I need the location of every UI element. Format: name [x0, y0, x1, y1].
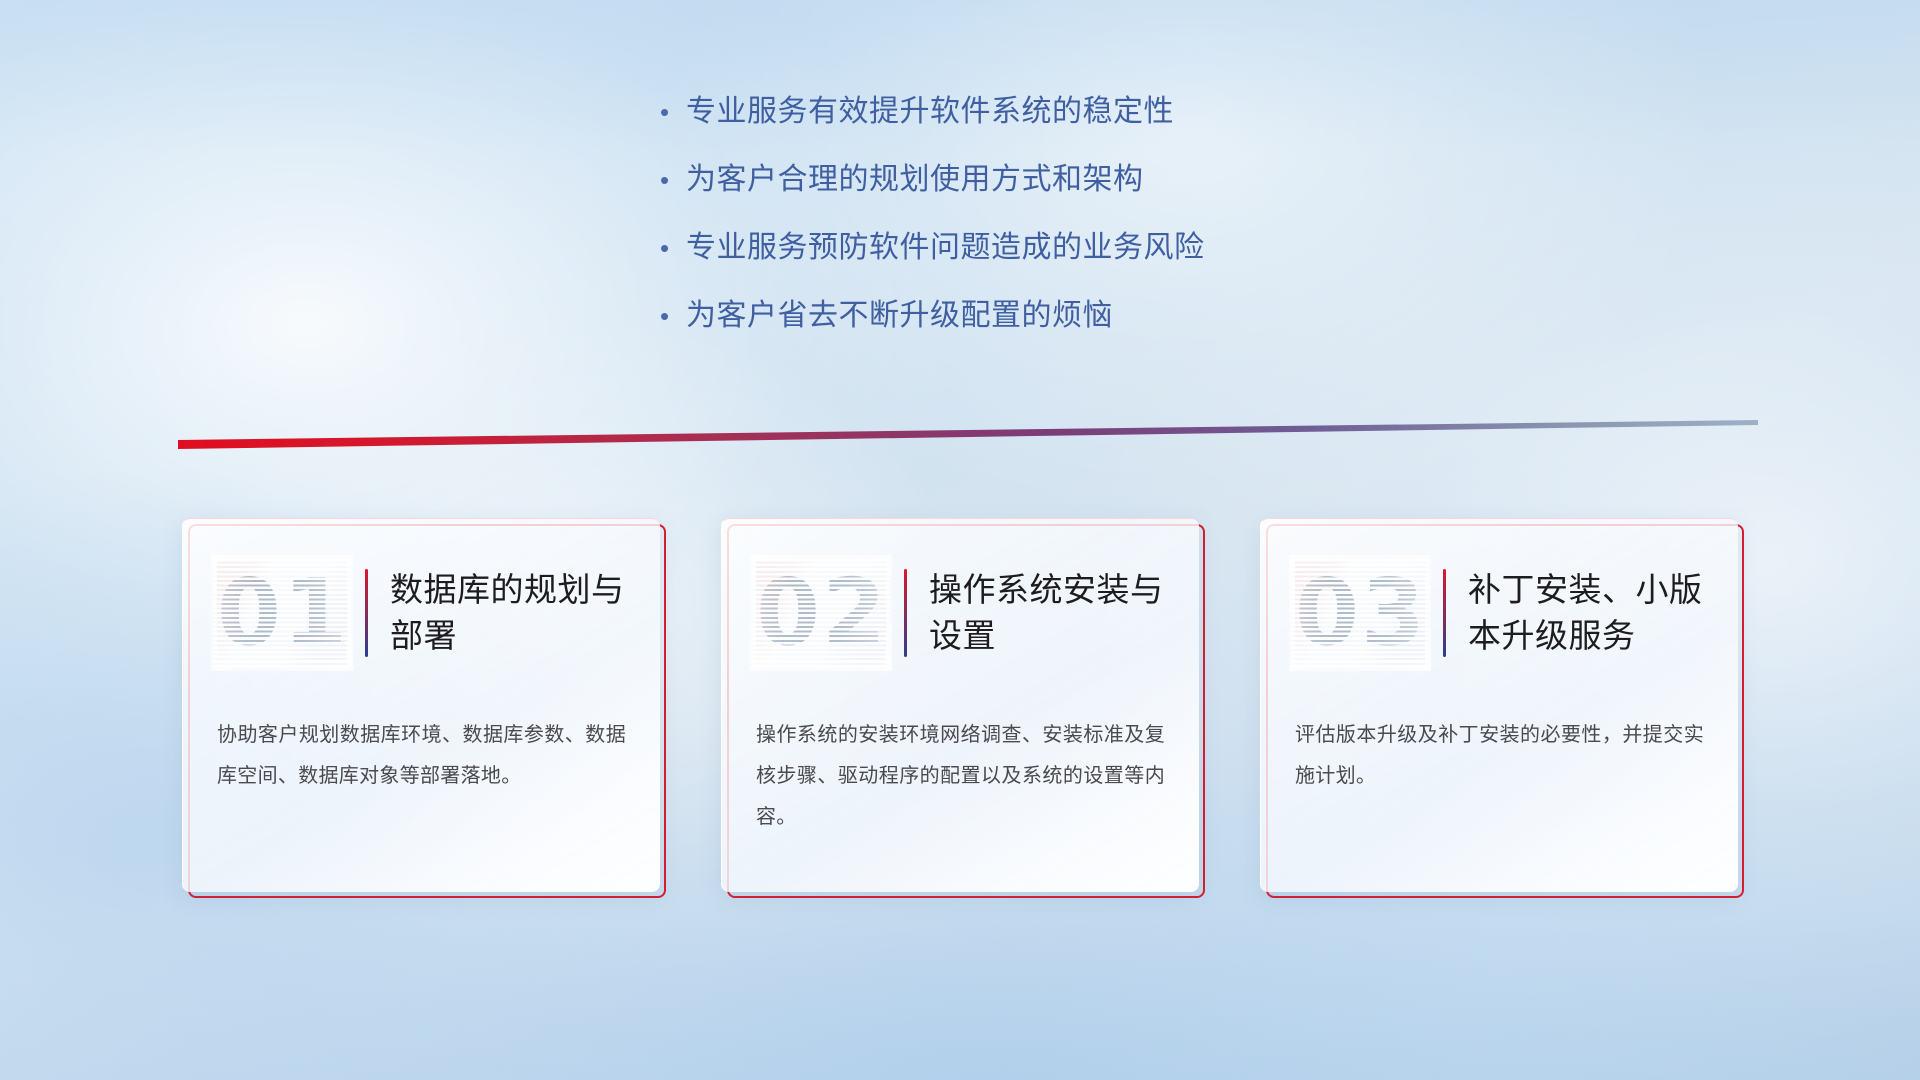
card-header: 01 数据库的规划与部署 [217, 549, 626, 677]
bullet-item-label: 为客户省去不断升级配置的烦恼 [686, 292, 1113, 340]
bullet-item: • 为客户省去不断升级配置的烦恼 [660, 292, 1440, 340]
card-body-text: 评估版本升级及补丁安装的必要性，并提交实施计划。 [1295, 715, 1704, 797]
bullet-item: • 专业服务预防软件问题造成的业务风险 [660, 224, 1440, 272]
card-panel: 02 操作系统安装与设置 操作系统的安装环境网络调查、安装标准及复核步骤、驱动程… [721, 518, 1199, 892]
bullet-item: • 为客户合理的规划使用方式和架构 [660, 156, 1440, 204]
card-title: 数据库的规划与部署 [390, 567, 626, 659]
card-number-graphic: 02 [756, 561, 886, 665]
bullet-marker-icon: • [660, 292, 686, 340]
service-card[interactable]: 03 补丁安装、小版本升级服务 评估版本升级及补丁安装的必要性，并提交实施计划。 [1260, 518, 1744, 898]
card-number-label: 01 [217, 561, 347, 665]
section-divider [178, 418, 1758, 450]
bullet-item: • 专业服务有效提升软件系统的稳定性 [660, 88, 1440, 136]
bullet-marker-icon: • [660, 224, 686, 272]
card-number-label: 02 [756, 561, 886, 665]
bullet-item-label: 专业服务有效提升软件系统的稳定性 [686, 88, 1174, 136]
card-panel: 01 数据库的规划与部署 协助客户规划数据库环境、数据库参数、数据库空间、数据库… [182, 518, 660, 892]
service-card-row: 01 数据库的规划与部署 协助客户规划数据库环境、数据库参数、数据库空间、数据库… [182, 518, 1744, 910]
card-body-text: 协助客户规划数据库环境、数据库参数、数据库空间、数据库对象等部署落地。 [217, 715, 626, 797]
card-title-rule [1443, 569, 1446, 657]
card-title-rule [365, 569, 368, 657]
card-header: 03 补丁安装、小版本升级服务 [1295, 549, 1704, 677]
bullet-marker-icon: • [660, 156, 686, 204]
bullet-item-label: 为客户合理的规划使用方式和架构 [686, 156, 1144, 204]
divider-shape [178, 418, 1758, 450]
card-panel: 03 补丁安装、小版本升级服务 评估版本升级及补丁安装的必要性，并提交实施计划。 [1260, 518, 1738, 892]
slide-canvas: • 专业服务有效提升软件系统的稳定性 • 为客户合理的规划使用方式和架构 • 专… [0, 0, 1920, 1080]
card-number-graphic: 01 [217, 561, 347, 665]
service-card[interactable]: 01 数据库的规划与部署 协助客户规划数据库环境、数据库参数、数据库空间、数据库… [182, 518, 666, 898]
card-number-label: 03 [1295, 561, 1425, 665]
card-header: 02 操作系统安装与设置 [756, 549, 1165, 677]
card-number-graphic: 03 [1295, 561, 1425, 665]
bullet-item-label: 专业服务预防软件问题造成的业务风险 [686, 224, 1205, 272]
card-title: 补丁安装、小版本升级服务 [1468, 567, 1704, 659]
benefits-bullet-list: • 专业服务有效提升软件系统的稳定性 • 为客户合理的规划使用方式和架构 • 专… [660, 88, 1440, 360]
bullet-marker-icon: • [660, 88, 686, 136]
service-card[interactable]: 02 操作系统安装与设置 操作系统的安装环境网络调查、安装标准及复核步骤、驱动程… [721, 518, 1205, 898]
card-title: 操作系统安装与设置 [929, 567, 1165, 659]
card-body-text: 操作系统的安装环境网络调查、安装标准及复核步骤、驱动程序的配置以及系统的设置等内… [756, 715, 1165, 838]
card-title-rule [904, 569, 907, 657]
